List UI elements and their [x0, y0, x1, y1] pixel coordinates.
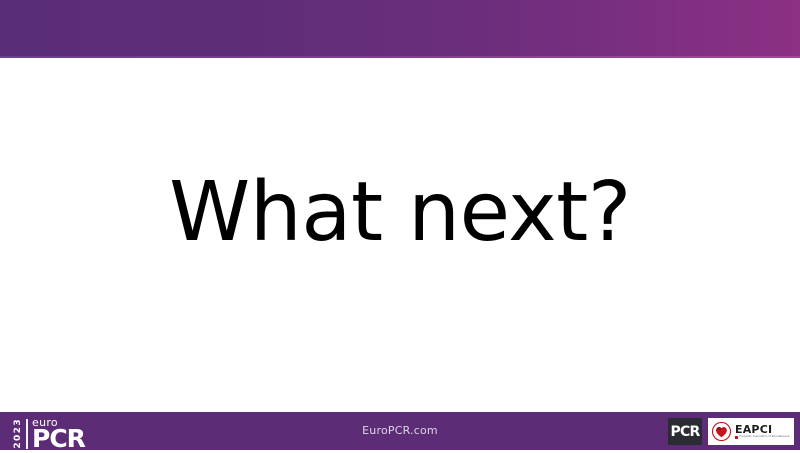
- pcr-badge: PCR: [668, 418, 702, 445]
- pcr-badge-label: PCR: [671, 424, 700, 440]
- header-band: [0, 0, 800, 58]
- eapci-badge-subtitle: European Association of Percutaneous Car…: [740, 436, 791, 439]
- slide-body: What next?: [0, 58, 800, 412]
- heart-icon: [712, 422, 731, 441]
- eapci-subtitle-marker: [735, 436, 738, 439]
- page-title: What next?: [169, 172, 631, 254]
- presentation-slide: What next? 2023 euro PCR EuroPCR.com PCR…: [0, 0, 800, 450]
- footer-logo-cluster: PCR EAPCI European Association of Percut…: [668, 417, 794, 446]
- eapci-badge-label: EAPCI: [735, 424, 790, 435]
- eapci-badge-subtitle-row: European Association of Percutaneous Car…: [735, 436, 790, 439]
- eapci-badge: EAPCI European Association of Percutaneo…: [708, 418, 794, 445]
- eapci-text-block: EAPCI European Association of Percutaneo…: [735, 424, 790, 440]
